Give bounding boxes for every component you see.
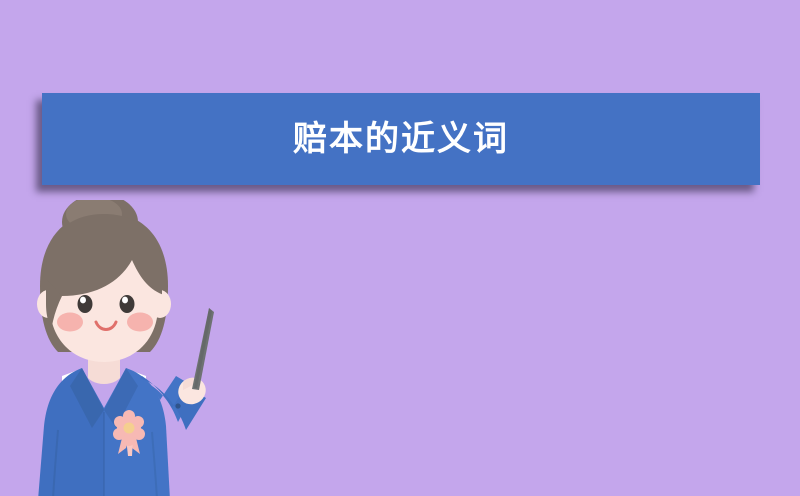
title-banner: 赔本的近义词	[42, 93, 760, 185]
body-group	[38, 368, 211, 496]
eye-right	[120, 295, 135, 313]
teacher-figure-svg	[0, 200, 260, 496]
teacher-illustration	[0, 200, 260, 496]
page-title: 赔本的近义词	[293, 122, 509, 156]
slide-canvas: 赔本的近义词	[0, 0, 800, 496]
cheek-left	[57, 313, 83, 332]
head-group	[36, 200, 171, 384]
cheek-right	[127, 313, 153, 332]
pointer-stick	[192, 308, 214, 390]
eye-left	[78, 295, 93, 313]
hair-fringe	[40, 212, 168, 298]
sleeve-button-1	[175, 403, 180, 408]
